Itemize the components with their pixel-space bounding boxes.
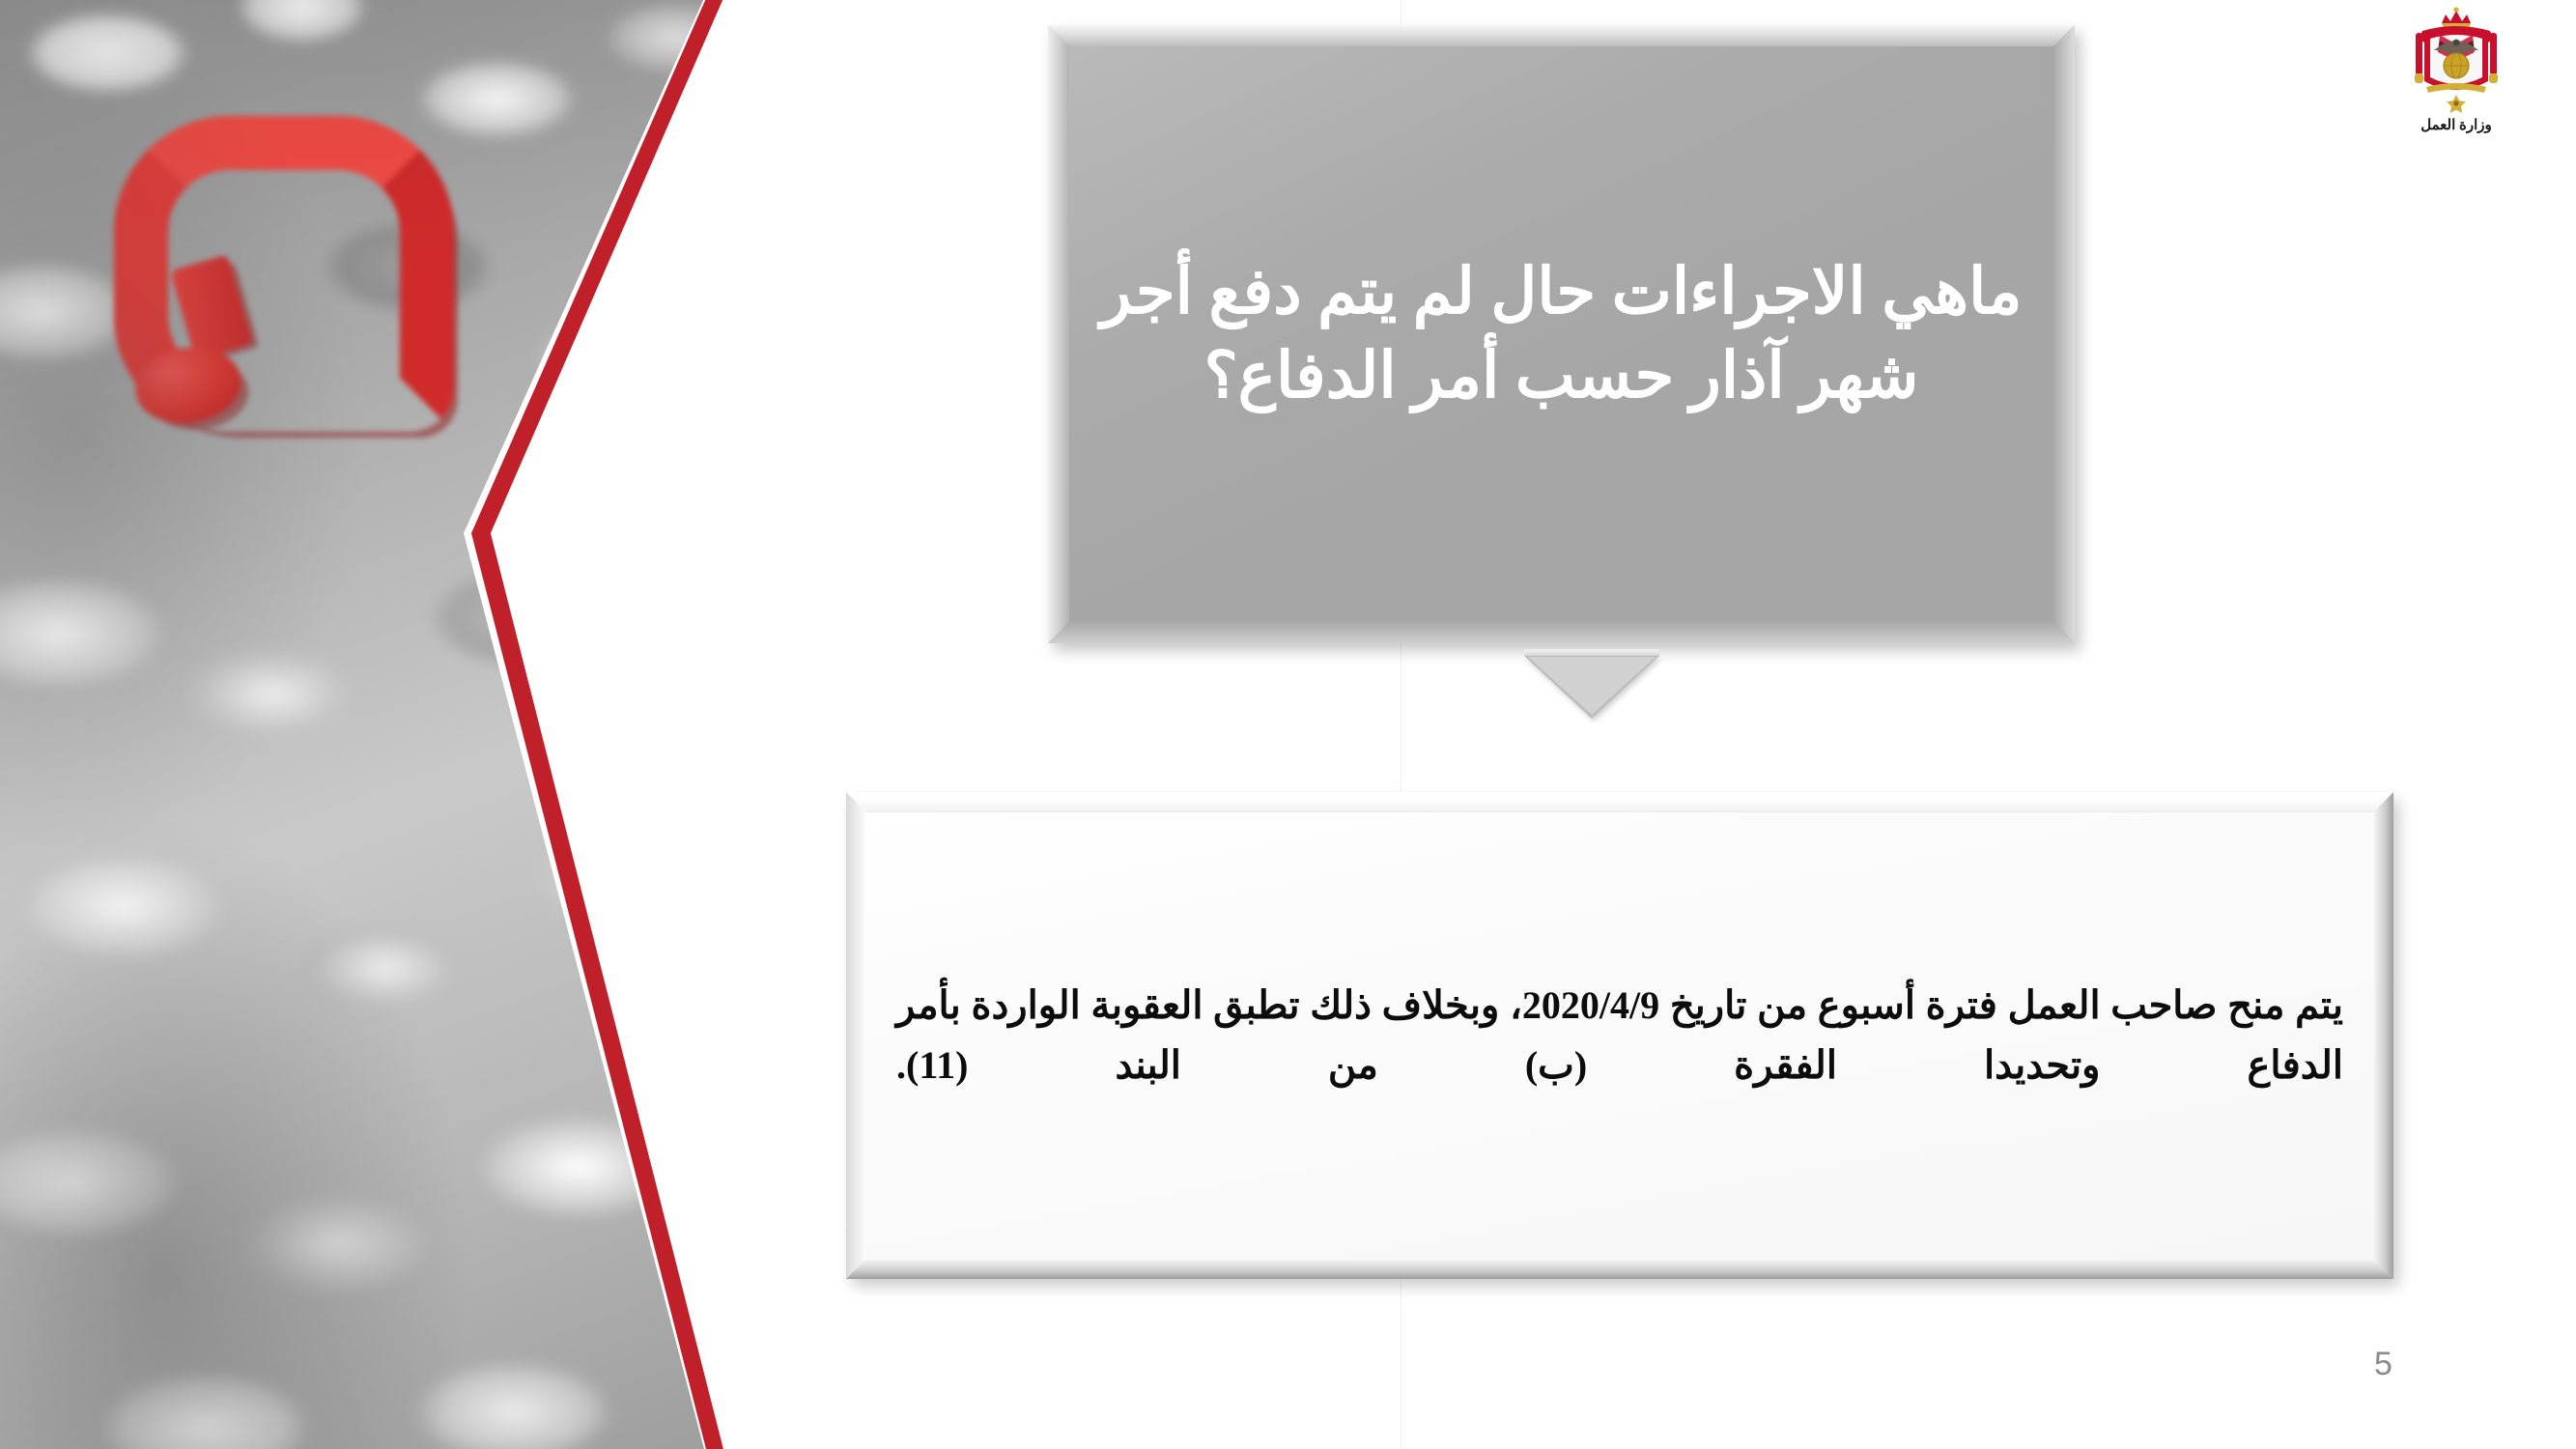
answer-box: يتم منح صاحب العمل فترة أسبوع من تاريخ 2…: [846, 792, 2393, 1279]
answer-box-bevel-right: [2374, 792, 2393, 1279]
down-arrow-icon: [1524, 649, 1659, 719]
answer-box-bevel-top: [846, 792, 2393, 811]
answer-text: يتم منح صاحب العمل فترة أسبوع من تاريخ 2…: [896, 976, 2343, 1095]
slide-canvas: ماهي الاجراءات حال لم يتم دفع أجر شهر آذ…: [0, 0, 2576, 1449]
question-box-bevel-bottom: [1048, 622, 2075, 643]
question-box-bevel-right: [2053, 25, 2075, 643]
red-question-mark-icon: [106, 116, 357, 435]
question-box: ماهي الاجراءات حال لم يتم دفع أجر شهر آذ…: [1048, 25, 2075, 643]
answer-box-bevel-bottom: [846, 1260, 2393, 1279]
ministry-logo: وزارة العمل: [2384, 6, 2529, 160]
question-box-bevel-top: [1048, 25, 2075, 46]
slide-number: 5: [2374, 1346, 2392, 1383]
answer-box-bevel-left: [846, 792, 865, 1279]
jordan-coat-of-arms-icon: [2384, 6, 2529, 120]
question-text: ماهي الاجراءات حال لم يتم دفع أجر شهر آذ…: [1087, 250, 2036, 418]
question-box-bevel-left: [1048, 25, 1069, 643]
